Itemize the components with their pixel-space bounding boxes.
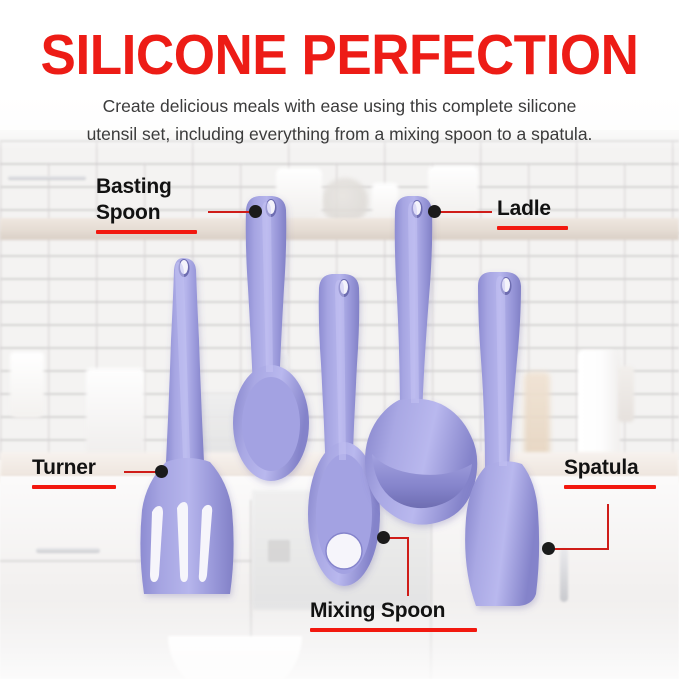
leader-line-ladle	[438, 211, 492, 213]
callout-spatula-line1: Spatula	[564, 455, 656, 481]
subtitle-line-1: Create delicious meals with ease using t…	[55, 92, 624, 120]
leader-dot-basting-spoon	[249, 205, 262, 218]
leader-dot-spatula	[542, 542, 555, 555]
mixing-spoon-utensil	[308, 274, 380, 586]
spatula-utensil	[465, 272, 539, 606]
leader-line-mixing-spoon-vertical	[407, 538, 409, 596]
callout-turner-line1: Turner	[32, 455, 116, 481]
page-title: SILICONE PERFECTION	[24, 26, 655, 84]
leader-line-spatula-horizontal	[551, 548, 609, 550]
callout-turner: Turner	[32, 455, 116, 489]
subtitle-line-2: utensil set, including everything from a…	[55, 120, 624, 148]
turner-utensil	[140, 258, 233, 594]
leader-dot-mixing-spoon	[377, 531, 390, 544]
callout-basting-spoon-line1: Basting	[96, 174, 197, 200]
callout-mixing-spoon-line1: Mixing Spoon	[310, 598, 477, 624]
leader-dot-turner	[155, 465, 168, 478]
callout-mixing-spoon-underline	[310, 628, 477, 632]
callout-spatula: Spatula	[564, 455, 656, 489]
basting-spoon-utensil	[233, 196, 309, 481]
leader-line-spatula-vertical	[607, 504, 609, 550]
callout-ladle: Ladle	[497, 196, 568, 230]
callout-turner-underline	[32, 485, 116, 489]
callout-spatula-underline	[564, 485, 656, 489]
infographic-canvas: SILICONE PERFECTION Create delicious mea…	[0, 0, 679, 679]
callout-ladle-underline	[497, 226, 568, 230]
callout-ladle-line1: Ladle	[497, 196, 568, 222]
callout-basting-spoon: Basting Spoon	[96, 174, 197, 234]
page-subtitle: Create delicious meals with ease using t…	[55, 92, 624, 148]
leader-dot-ladle	[428, 205, 441, 218]
ladle-utensil	[365, 196, 477, 525]
callout-basting-spoon-underline	[96, 230, 197, 234]
callout-basting-spoon-line2: Spoon	[96, 200, 197, 226]
callout-mixing-spoon: Mixing Spoon	[310, 598, 477, 632]
